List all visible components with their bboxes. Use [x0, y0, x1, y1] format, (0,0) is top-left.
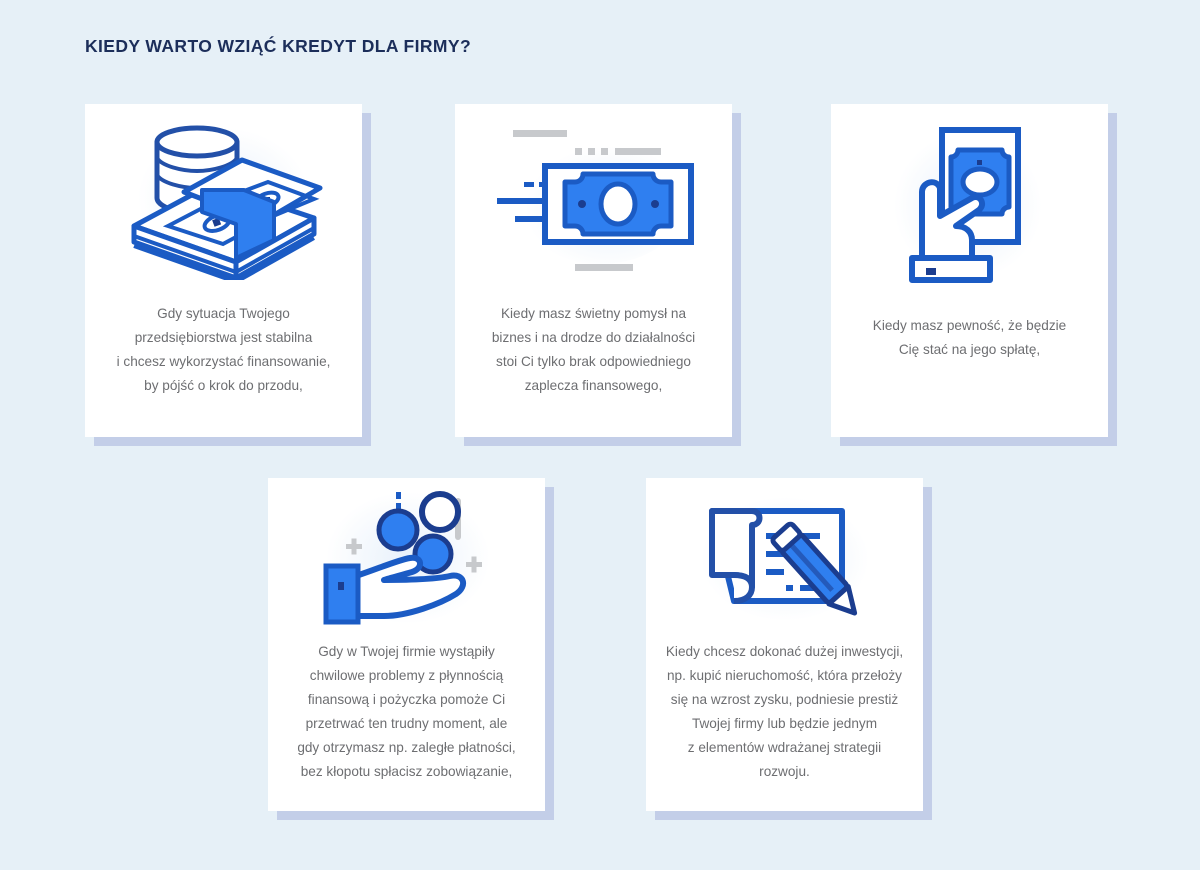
card-2-icon-wrap [455, 104, 732, 296]
card-kredyt-pomysl-na-biznes: Kiedy masz świetny pomysł na biznes i na… [455, 104, 732, 437]
card-5-icon-wrap [646, 478, 923, 640]
card-2-text: Kiedy masz świetny pomysł na biznes i na… [474, 296, 713, 398]
card-1-icon-wrap [85, 104, 362, 296]
money-stack-icon [124, 120, 324, 280]
card-kredyt-pewnosc-splaty: Kiedy masz pewność, że będzie Cię stać n… [831, 104, 1108, 437]
page-root: KIEDY WARTO WZIĄĆ KREDYT DLA FIRMY? [0, 0, 1200, 870]
flying-banknote-icon [489, 120, 699, 280]
card-3-icon-wrap [831, 104, 1108, 306]
card-4-text: Gdy w Twojej firmie wystąpiły chwilowe p… [279, 640, 533, 784]
hand-holding-banknote-icon [880, 120, 1060, 290]
card-kredyt-stabilna-sytuacja: Gdy sytuacja Twojego przedsiębiorstwa je… [85, 104, 362, 437]
card-kredyt-problemy-z-plynnoscia: Gdy w Twojej firmie wystąpiły chwilowe p… [268, 478, 545, 811]
card-4-icon-wrap [268, 478, 545, 640]
cheque-with-pen-icon [690, 489, 880, 629]
page-title: KIEDY WARTO WZIĄĆ KREDYT DLA FIRMY? [85, 36, 471, 57]
card-3-text: Kiedy masz pewność, że będzie Cię stać n… [855, 306, 1084, 362]
hand-with-coins-icon [312, 484, 502, 634]
card-kredyt-duza-inwestycja: Kiedy chcesz dokonać dużej inwestycji, n… [646, 478, 923, 811]
card-1-text: Gdy sytuacja Twojego przedsiębiorstwa je… [99, 296, 349, 398]
card-5-text: Kiedy chcesz dokonać dużej inwestycji, n… [648, 640, 921, 784]
